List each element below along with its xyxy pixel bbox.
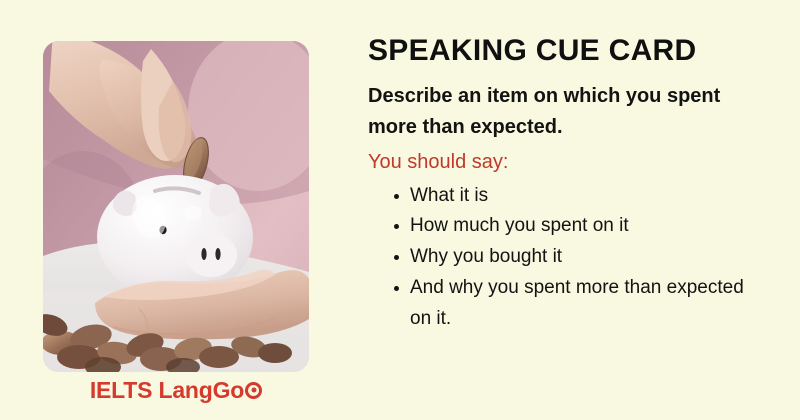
list-item: And why you spent more than expected on … (394, 273, 766, 335)
list-item: Why you bought it (394, 242, 766, 273)
bullseye-target-icon (245, 382, 262, 399)
cue-card-bullet-list: What it is How much you spent on it Why … (368, 181, 766, 335)
brand-name: IELTS LangGo (90, 379, 244, 402)
list-item: What it is (394, 181, 766, 212)
speaking-cue-card: IELTS LangGo SPEAKING CUE CARD Describe … (0, 0, 800, 420)
list-item: How much you spent on it (394, 211, 766, 242)
cue-card-photo (43, 41, 309, 372)
should-say-label: You should say: (368, 147, 768, 177)
page-title: SPEAKING CUE CARD (368, 34, 768, 69)
cue-card-content: SPEAKING CUE CARD Describe an item on wh… (368, 34, 768, 334)
piggy-bank-photo-illustration (43, 41, 309, 372)
cue-card-prompt: Describe an item on which you spent more… (368, 81, 746, 143)
brand-logo: IELTS LangGo (43, 376, 309, 404)
